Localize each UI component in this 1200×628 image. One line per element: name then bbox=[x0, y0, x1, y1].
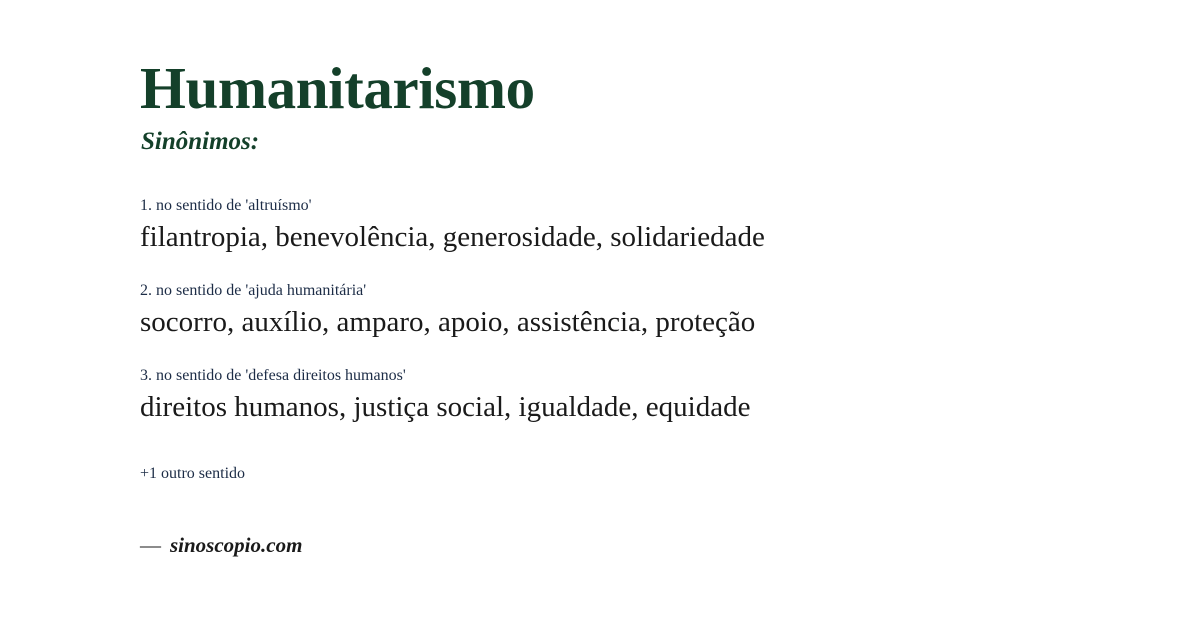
em-dash: — bbox=[140, 535, 161, 556]
sense-synonyms: direitos humanos, justiça social, iguald… bbox=[140, 389, 1100, 426]
sense-block: 1. no sentido de 'altruísmo' filantropia… bbox=[140, 196, 1100, 256]
synonyms-subtitle: Sinônimos: bbox=[141, 128, 535, 156]
sense-label: 2. no sentido de 'ajuda humanitária' bbox=[140, 281, 1100, 302]
sense-synonyms: socorro, auxílio, amparo, apoio, assistê… bbox=[140, 304, 1100, 341]
card-footer: — sinoscopio.com bbox=[140, 535, 302, 556]
more-senses-note: +1 outro sentido bbox=[140, 465, 245, 483]
sense-label: 1. no sentido de 'altruísmo' bbox=[140, 196, 1100, 217]
sense-label: 3. no sentido de 'defesa direitos humano… bbox=[140, 366, 1100, 387]
synonym-card: Humanitarismo Sinônimos: 1. no sentido d… bbox=[0, 0, 1200, 628]
source-attribution: sinoscopio.com bbox=[170, 535, 302, 556]
sense-block: 2. no sentido de 'ajuda humanitária' soc… bbox=[140, 281, 1100, 341]
card-header: Humanitarismo Sinônimos: bbox=[140, 58, 535, 155]
entry-title: Humanitarismo bbox=[140, 58, 535, 120]
senses-list: 1. no sentido de 'altruísmo' filantropia… bbox=[140, 196, 1100, 426]
sense-block: 3. no sentido de 'defesa direitos humano… bbox=[140, 366, 1100, 426]
sense-synonyms: filantropia, benevolência, generosidade,… bbox=[140, 219, 1100, 256]
